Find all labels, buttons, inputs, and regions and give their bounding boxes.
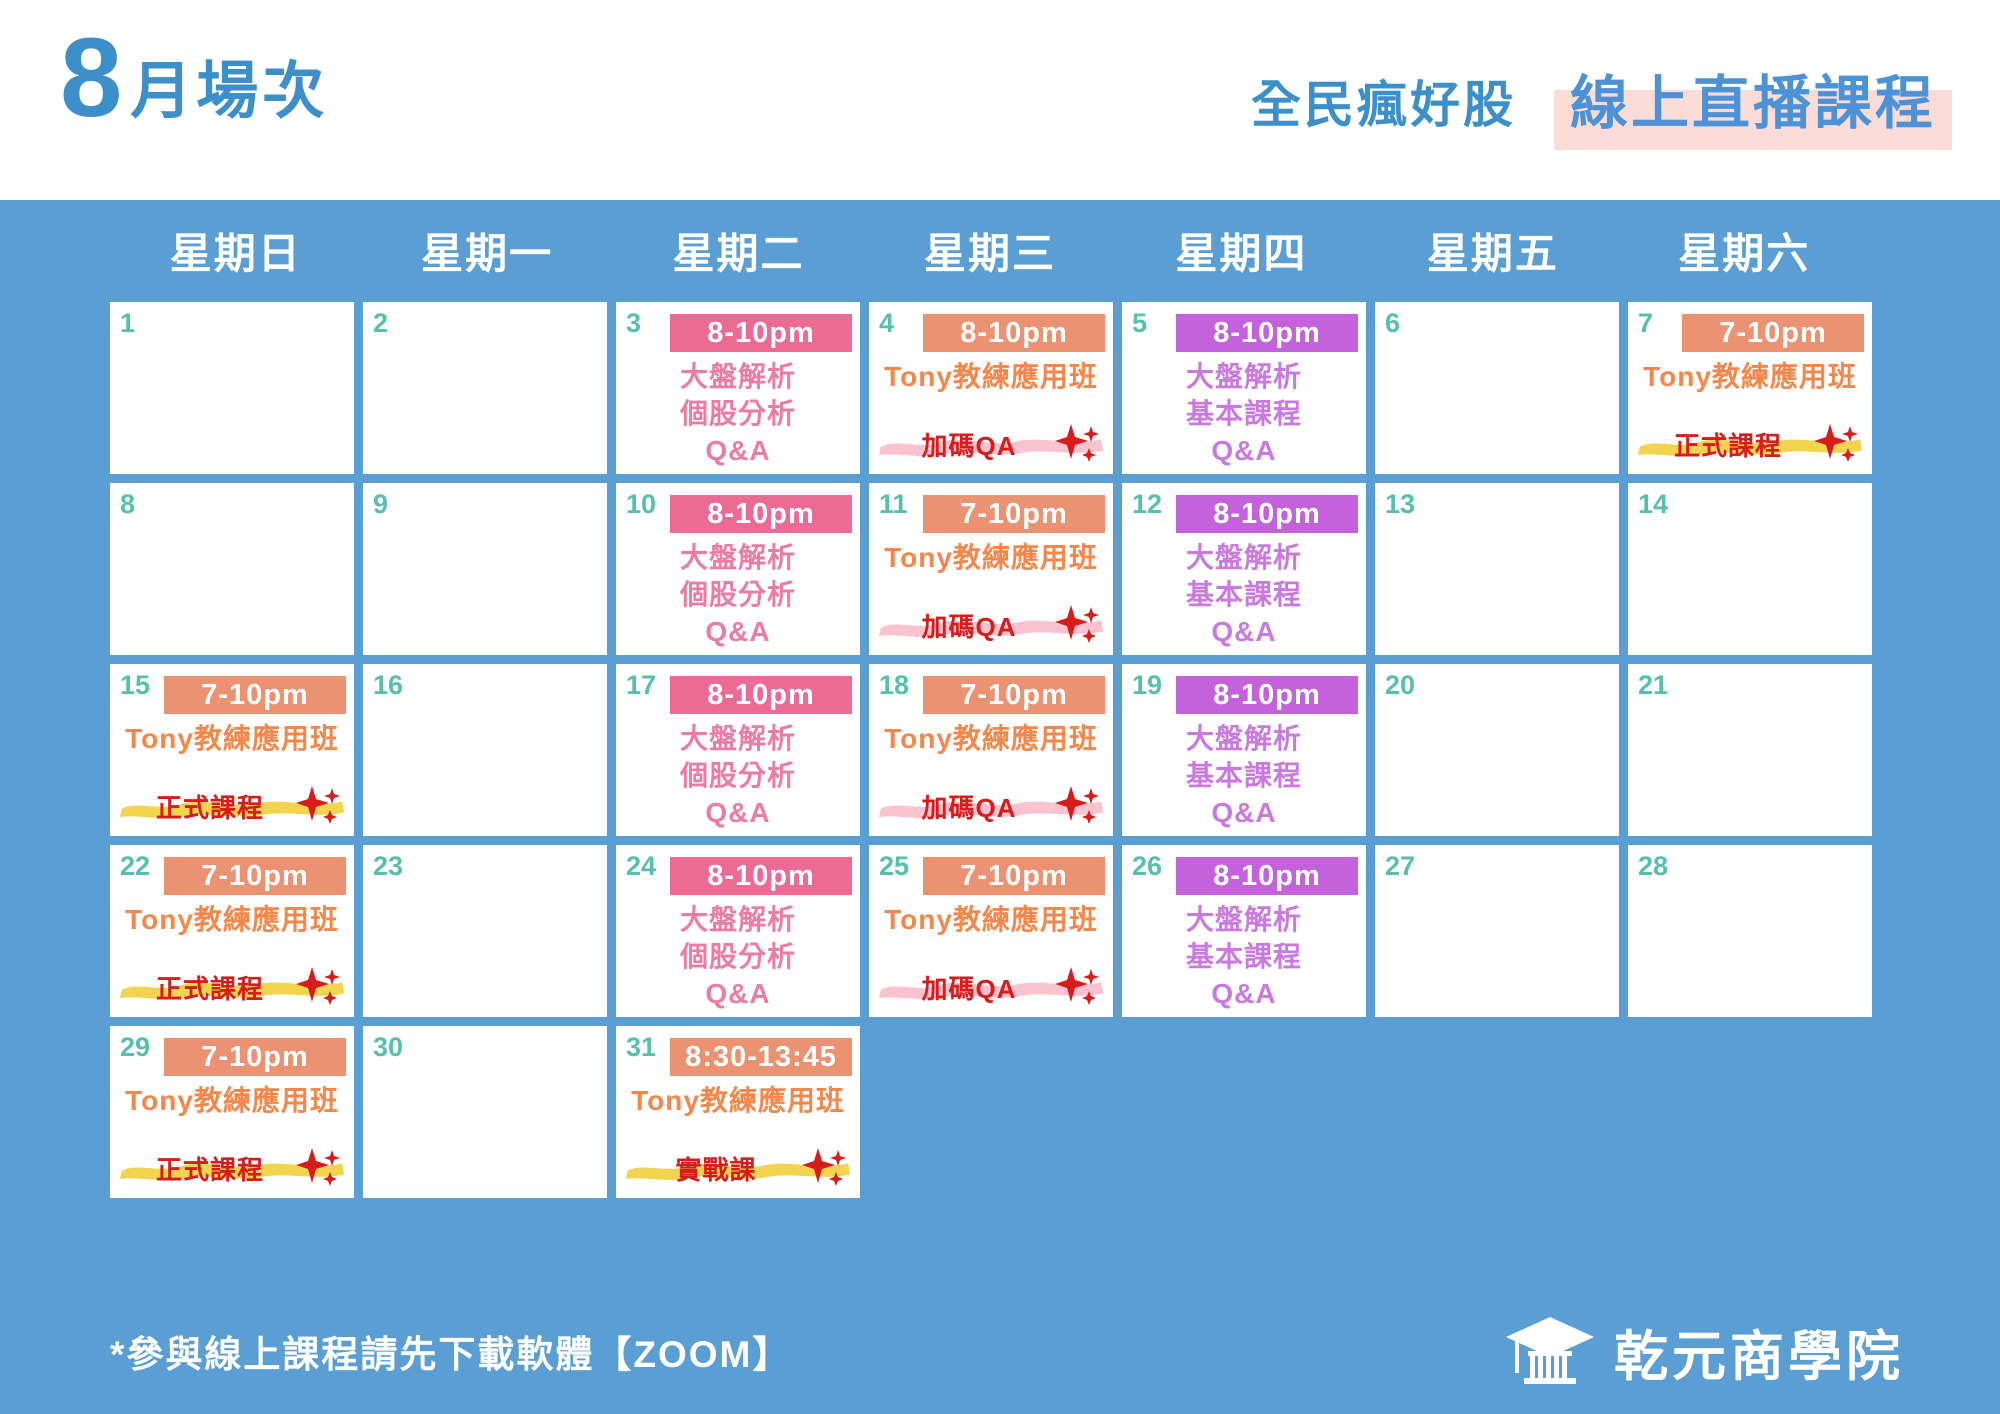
session-line: 大盤解析	[680, 901, 796, 938]
calendar-day-25[interactable]: 257-10pmTony教練應用班加碼QA	[869, 845, 1113, 1017]
weekday-fri: 星期五	[1367, 210, 1618, 290]
session-line: Q&A	[1211, 613, 1276, 650]
session-lines: 大盤解析個股分析Q&A	[616, 720, 860, 832]
brand-logo: 乾元商學院	[1504, 1311, 1904, 1392]
calendar-day-2[interactable]: 2	[363, 302, 607, 474]
calendar-day-4[interactable]: 48-10pmTony教練應用班加碼QA	[869, 302, 1113, 474]
session-line: Tony教練應用班	[884, 539, 1098, 576]
session-line: Q&A	[705, 432, 770, 469]
time-badge: 8-10pm	[670, 314, 852, 352]
session-lines: Tony教練應用班	[110, 720, 354, 757]
session-lines: 大盤解析個股分析Q&A	[616, 358, 860, 470]
calendar-day-19[interactable]: 198-10pm大盤解析基本課程Q&A	[1122, 664, 1366, 836]
course-tag: 正式課程	[118, 1148, 346, 1188]
calendar-day-7[interactable]: 77-10pmTony教練應用班正式課程	[1628, 302, 1872, 474]
session-line: Q&A	[705, 975, 770, 1012]
session-lines: Tony教練應用班	[869, 539, 1113, 576]
session-line: 基本課程	[1186, 757, 1302, 794]
calendar-day-20[interactable]: 20	[1375, 664, 1619, 836]
calendar-poster: 8 月場次 全民瘋好股 線上直播課程 星期日 星期一 星期二 星期三 星期四 星…	[0, 0, 2000, 1414]
calendar-day-5[interactable]: 58-10pm大盤解析基本課程Q&A	[1122, 302, 1366, 474]
calendar-day-26[interactable]: 268-10pm大盤解析基本課程Q&A	[1122, 845, 1366, 1017]
session-line: 個股分析	[680, 395, 796, 432]
session-line: 大盤解析	[1186, 720, 1302, 757]
session-line: 大盤解析	[680, 539, 796, 576]
day-number: 21	[1638, 670, 1668, 701]
session-line: 大盤解析	[680, 358, 796, 395]
poster-header: 8 月場次 全民瘋好股 線上直播課程	[0, 0, 2000, 200]
session-line: Q&A	[705, 613, 770, 650]
course-tag: 加碼QA	[877, 967, 1105, 1007]
session-line: Q&A	[1211, 432, 1276, 469]
graduation-cap-icon	[1504, 1311, 1596, 1392]
day-number: 9	[373, 489, 388, 520]
weekday-header-row: 星期日 星期一 星期二 星期三 星期四 星期五 星期六	[110, 210, 1870, 290]
session-line: Tony教練應用班	[884, 720, 1098, 757]
time-badge: 7-10pm	[923, 857, 1105, 895]
time-badge: 8-10pm	[1176, 676, 1358, 714]
session-line: 個股分析	[680, 938, 796, 975]
calendar-day-30[interactable]: 30	[363, 1026, 607, 1198]
slogan-text: 全民瘋好股	[1251, 65, 1516, 137]
calendar-day-9[interactable]: 9	[363, 483, 607, 655]
day-number: 24	[626, 851, 656, 882]
day-number: 8	[120, 489, 135, 520]
calendar-board: 星期日 星期一 星期二 星期三 星期四 星期五 星期六 1238-10pm大盤解…	[0, 200, 2000, 1414]
session-line: 基本課程	[1186, 395, 1302, 432]
brand-name: 乾元商學院	[1614, 1312, 1904, 1391]
calendar-day-6[interactable]: 6	[1375, 302, 1619, 474]
day-number: 4	[879, 308, 894, 339]
session-line: Tony教練應用班	[884, 358, 1098, 395]
calendar-day-1[interactable]: 1	[110, 302, 354, 474]
time-badge: 8-10pm	[1176, 495, 1358, 533]
calendar-day-11[interactable]: 117-10pmTony教練應用班加碼QA	[869, 483, 1113, 655]
session-lines: Tony教練應用班	[869, 358, 1113, 395]
course-tag: 加碼QA	[877, 605, 1105, 645]
session-line: Tony教練應用班	[631, 1082, 845, 1119]
session-lines: 大盤解析基本課程Q&A	[1122, 358, 1366, 470]
day-number: 11	[879, 489, 908, 520]
weekday-mon: 星期一	[361, 210, 612, 290]
weekday-sun: 星期日	[110, 210, 361, 290]
session-lines: Tony教練應用班	[1628, 358, 1872, 395]
day-number: 18	[879, 670, 909, 701]
day-number: 1	[120, 308, 135, 339]
day-number: 22	[120, 851, 150, 882]
weekday-thu: 星期四	[1116, 210, 1367, 290]
calendar-day-22[interactable]: 227-10pmTony教練應用班正式課程	[110, 845, 354, 1017]
session-lines: Tony教練應用班	[110, 901, 354, 938]
day-number: 3	[626, 308, 641, 339]
calendar-day-18[interactable]: 187-10pmTony教練應用班加碼QA	[869, 664, 1113, 836]
month-label: 月場次	[130, 61, 328, 123]
time-badge: 7-10pm	[923, 495, 1105, 533]
calendar-day-8[interactable]: 8	[110, 483, 354, 655]
calendar-day-27[interactable]: 27	[1375, 845, 1619, 1017]
day-number: 25	[879, 851, 909, 882]
day-number: 7	[1638, 308, 1653, 339]
calendar-day-blank	[1628, 1026, 1872, 1198]
course-tag: 正式課程	[118, 967, 346, 1007]
calendar-day-15[interactable]: 157-10pmTony教練應用班正式課程	[110, 664, 354, 836]
session-lines: Tony教練應用班	[616, 1082, 860, 1119]
session-line: 大盤解析	[1186, 539, 1302, 576]
day-number: 17	[626, 670, 656, 701]
time-badge: 8-10pm	[1176, 314, 1358, 352]
session-lines: 大盤解析個股分析Q&A	[616, 539, 860, 651]
session-lines: 大盤解析個股分析Q&A	[616, 901, 860, 1013]
calendar-day-23[interactable]: 23	[363, 845, 607, 1017]
session-lines: Tony教練應用班	[869, 901, 1113, 938]
day-number: 31	[626, 1032, 656, 1063]
highlight-badge: 線上直播課程	[1554, 52, 1952, 150]
session-line: Tony教練應用班	[125, 901, 339, 938]
calendar-day-12[interactable]: 128-10pm大盤解析基本課程Q&A	[1122, 483, 1366, 655]
session-line: 大盤解析	[1186, 901, 1302, 938]
time-badge: 8-10pm	[923, 314, 1105, 352]
day-number: 12	[1132, 489, 1162, 520]
day-number: 26	[1132, 851, 1162, 882]
day-number: 5	[1132, 308, 1147, 339]
calendar-day-blank	[1375, 1026, 1619, 1198]
highlight-text: 線上直播課程	[1570, 71, 1936, 136]
day-number: 30	[373, 1032, 403, 1063]
day-number: 27	[1385, 851, 1415, 882]
session-line: 基本課程	[1186, 938, 1302, 975]
course-tag: 加碼QA	[877, 424, 1105, 464]
calendar-day-blank	[869, 1026, 1113, 1198]
calendar-day-28[interactable]: 28	[1628, 845, 1872, 1017]
calendar-day-24[interactable]: 248-10pm大盤解析個股分析Q&A	[616, 845, 860, 1017]
time-badge: 7-10pm	[164, 857, 346, 895]
weekday-tue: 星期二	[613, 210, 864, 290]
calendar-day-14[interactable]: 14	[1628, 483, 1872, 655]
day-number: 29	[120, 1032, 150, 1063]
session-lines: 大盤解析基本課程Q&A	[1122, 901, 1366, 1013]
weekday-wed: 星期三	[864, 210, 1115, 290]
course-tag: 正式課程	[118, 786, 346, 826]
calendar-day-13[interactable]: 13	[1375, 483, 1619, 655]
day-number: 14	[1638, 489, 1668, 520]
day-number: 6	[1385, 308, 1400, 339]
page-title: 8 月場次	[60, 28, 328, 129]
session-line: 個股分析	[680, 757, 796, 794]
calendar-grid: 1238-10pm大盤解析個股分析Q&A48-10pmTony教練應用班加碼QA…	[110, 302, 1872, 1198]
course-tag: 加碼QA	[877, 786, 1105, 826]
day-number: 16	[373, 670, 403, 701]
day-number: 2	[373, 308, 388, 339]
calendar-day-21[interactable]: 21	[1628, 664, 1872, 836]
session-line: 大盤解析	[680, 720, 796, 757]
session-line: 個股分析	[680, 576, 796, 613]
month-number: 8	[60, 28, 120, 129]
calendar-day-29[interactable]: 297-10pmTony教練應用班正式課程	[110, 1026, 354, 1198]
day-number: 13	[1385, 489, 1415, 520]
header-tagline-group: 全民瘋好股 線上直播課程	[1251, 52, 1952, 150]
time-badge: 7-10pm	[923, 676, 1105, 714]
session-lines: Tony教練應用班	[110, 1082, 354, 1119]
day-number: 19	[1132, 670, 1162, 701]
day-number: 15	[120, 670, 150, 701]
course-tag: 實戰課	[624, 1148, 852, 1188]
session-line: Q&A	[1211, 794, 1276, 831]
session-lines: 大盤解析基本課程Q&A	[1122, 539, 1366, 651]
session-lines: Tony教練應用班	[869, 720, 1113, 757]
footer-note: *參與線上課程請先下載軟體【ZOOM】	[110, 1324, 791, 1378]
session-line: Q&A	[1211, 975, 1276, 1012]
calendar-day-10[interactable]: 108-10pm大盤解析個股分析Q&A	[616, 483, 860, 655]
time-badge: 8-10pm	[1176, 857, 1358, 895]
day-number: 20	[1385, 670, 1415, 701]
weekday-sat: 星期六	[1619, 210, 1870, 290]
calendar-day-blank	[1122, 1026, 1366, 1198]
calendar-day-16[interactable]: 16	[363, 664, 607, 836]
time-badge: 8-10pm	[670, 676, 852, 714]
course-tag: 正式課程	[1636, 424, 1864, 464]
calendar-day-31[interactable]: 318:30-13:45Tony教練應用班實戰課	[616, 1026, 860, 1198]
session-line: Q&A	[705, 794, 770, 831]
time-badge: 7-10pm	[164, 676, 346, 714]
time-badge: 8-10pm	[670, 857, 852, 895]
time-badge: 7-10pm	[164, 1038, 346, 1076]
day-number: 23	[373, 851, 403, 882]
time-badge: 8:30-13:45	[670, 1038, 852, 1076]
day-number: 28	[1638, 851, 1668, 882]
session-line: 大盤解析	[1186, 358, 1302, 395]
day-number: 10	[626, 489, 656, 520]
session-lines: 大盤解析基本課程Q&A	[1122, 720, 1366, 832]
time-badge: 8-10pm	[670, 495, 852, 533]
session-line: Tony教練應用班	[125, 1082, 339, 1119]
calendar-day-17[interactable]: 178-10pm大盤解析個股分析Q&A	[616, 664, 860, 836]
session-line: Tony教練應用班	[125, 720, 339, 757]
time-badge: 7-10pm	[1682, 314, 1864, 352]
session-line: Tony教練應用班	[1643, 358, 1857, 395]
calendar-day-3[interactable]: 38-10pm大盤解析個股分析Q&A	[616, 302, 860, 474]
session-line: 基本課程	[1186, 576, 1302, 613]
session-line: Tony教練應用班	[884, 901, 1098, 938]
